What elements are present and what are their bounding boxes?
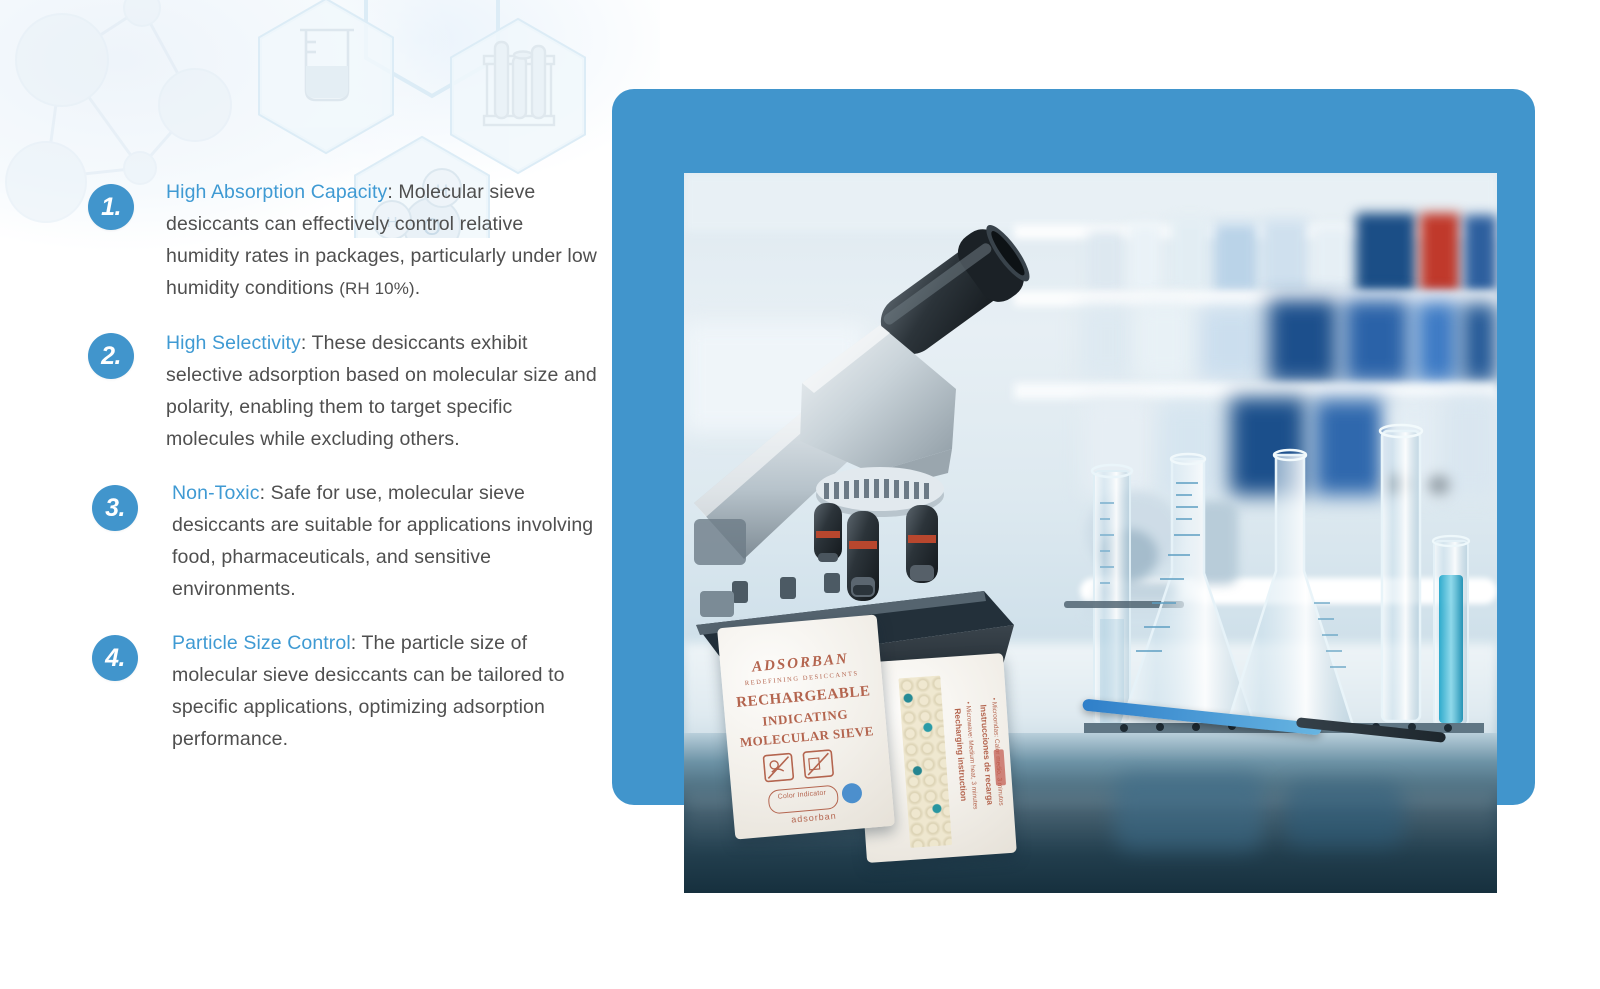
list-item-separator: : bbox=[260, 482, 271, 504]
graduated-cylinder-icon bbox=[1092, 465, 1132, 723]
list-item-tail: (RH 10%) bbox=[339, 279, 414, 298]
test-tube-rack-icon bbox=[484, 42, 554, 125]
list-item-text: High Absorption Capacity: Molecular siev… bbox=[82, 176, 602, 305]
binder bbox=[1464, 215, 1497, 293]
indicator-dot bbox=[841, 782, 863, 804]
binder bbox=[1420, 213, 1460, 293]
list-number-badge: 4. bbox=[92, 635, 138, 681]
list-item: 2. High Selectivity: These desiccants ex… bbox=[82, 327, 602, 455]
list-item-separator: : bbox=[351, 632, 362, 654]
feature-list: 1. High Absorption Capacity: Molecular s… bbox=[82, 176, 602, 777]
list-item-separator: : bbox=[387, 181, 398, 203]
binder bbox=[1356, 213, 1416, 293]
bead-window bbox=[898, 675, 952, 848]
list-item-term: High Absorption Capacity bbox=[166, 181, 387, 203]
bottle bbox=[1312, 225, 1352, 291]
erlenmeyer-flask-icon bbox=[1224, 450, 1356, 735]
binder bbox=[1344, 299, 1410, 383]
desiccant-packet-front: ADSORBAN REDEFINING DESICCANTS RECHARGEA… bbox=[717, 614, 895, 839]
blurred-vessel bbox=[1284, 783, 1404, 847]
bottle bbox=[1170, 217, 1210, 293]
beaker-icon bbox=[300, 30, 354, 100]
list-item: 4. Particle Size Control: The particle s… bbox=[82, 627, 602, 755]
list-number-badge: 1. bbox=[88, 184, 134, 230]
list-item-term: Non-Toxic bbox=[172, 482, 260, 504]
list-number-badge: 3. bbox=[92, 485, 138, 531]
bottle bbox=[1200, 307, 1262, 379]
bottle bbox=[1128, 223, 1162, 293]
list-item: 3. Non-Toxic: Safe for use, molecular si… bbox=[82, 477, 602, 605]
test-tube-icon bbox=[1380, 425, 1422, 721]
graduated-cylinder-icon bbox=[1433, 536, 1469, 725]
binder bbox=[1268, 299, 1338, 383]
packet-seal-mark bbox=[994, 749, 1006, 786]
slide-root: O H H 1. High Absorption Capacity: Molec… bbox=[0, 0, 1600, 989]
lab-photo: Recharging instruction • Microwave: Medi… bbox=[684, 173, 1497, 893]
no-eat-icon bbox=[762, 752, 794, 783]
list-item-term: Particle Size Control bbox=[172, 632, 351, 654]
binder bbox=[1462, 303, 1497, 383]
list-item-tail-end: . bbox=[415, 277, 421, 299]
list-item-term: High Selectivity bbox=[166, 332, 301, 354]
no-microwave-icon bbox=[802, 749, 834, 780]
list-item-text: High Selectivity: These desiccants exhib… bbox=[82, 327, 602, 455]
list-item-separator: : bbox=[301, 332, 312, 354]
list-item-text: Particle Size Control: The particle size… bbox=[82, 627, 602, 755]
list-number-badge: 2. bbox=[88, 333, 134, 379]
binder bbox=[1416, 301, 1458, 383]
list-item-text: Non-Toxic: Safe for use, molecular sieve… bbox=[82, 477, 602, 605]
list-item: 1. High Absorption Capacity: Molecular s… bbox=[82, 176, 602, 305]
blurred-vessel bbox=[1114, 773, 1264, 851]
bottle bbox=[1262, 219, 1308, 293]
bottle bbox=[1214, 223, 1258, 293]
bottle bbox=[1136, 301, 1194, 379]
